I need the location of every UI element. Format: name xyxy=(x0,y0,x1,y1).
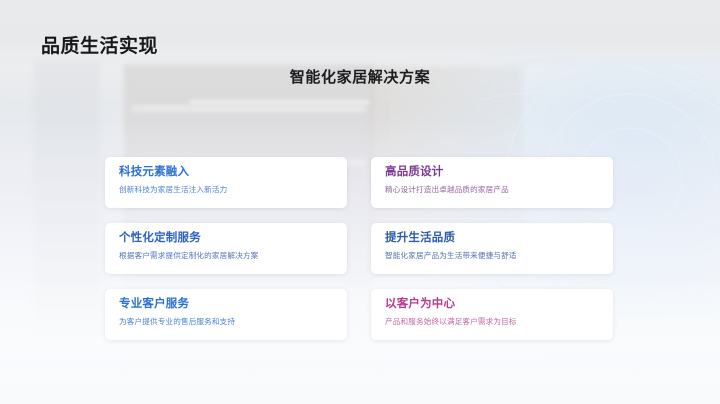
feature-card-2[interactable]: 高品质设计 精心设计打造出卓越品质的家居产品 xyxy=(371,157,613,208)
feature-card-2-description: 精心设计打造出卓越品质的家居产品 xyxy=(385,184,613,195)
feature-card-2-title: 高品质设计 xyxy=(385,165,613,179)
feature-card-3-title: 个性化定制服务 xyxy=(119,231,347,245)
feature-card-grid: 科技元素融入 创新科技为家居生活注入新活力 高品质设计 精心设计打造出卓越品质的… xyxy=(105,157,613,340)
page-title: 品质生活实现 xyxy=(41,31,158,58)
slide-canvas: 品质生活实现 智能化家居解决方案 科技元素融入 创新科技为家居生活注入新活力 高… xyxy=(0,0,720,404)
feature-card-4-description: 智能化家居产品为生活带来便捷与舒适 xyxy=(385,250,613,261)
feature-card-5[interactable]: 专业客户服务 为客户提供专业的售后服务和支持 xyxy=(105,289,347,340)
feature-card-6[interactable]: 以客户为中心 产品和服务始终以满足客户需求为目标 xyxy=(371,289,613,340)
feature-card-3[interactable]: 个性化定制服务 根据客户需求提供定制化的家居解决方案 xyxy=(105,223,347,274)
feature-card-1-description: 创新科技为家居生活注入新活力 xyxy=(119,184,347,195)
feature-card-1-title: 科技元素融入 xyxy=(119,165,347,179)
feature-card-4-title: 提升生活品质 xyxy=(385,231,613,245)
feature-card-3-description: 根据客户需求提供定制化的家居解决方案 xyxy=(119,250,347,261)
feature-card-5-description: 为客户提供专业的售后服务和支持 xyxy=(119,316,347,327)
feature-card-4[interactable]: 提升生活品质 智能化家居产品为生活带来便捷与舒适 xyxy=(371,223,613,274)
feature-card-1[interactable]: 科技元素融入 创新科技为家居生活注入新活力 xyxy=(105,157,347,208)
feature-card-6-title: 以客户为中心 xyxy=(385,297,613,311)
feature-card-6-description: 产品和服务始终以满足客户需求为目标 xyxy=(385,316,613,327)
page-subtitle: 智能化家居解决方案 xyxy=(0,66,720,87)
feature-card-5-title: 专业客户服务 xyxy=(119,297,347,311)
